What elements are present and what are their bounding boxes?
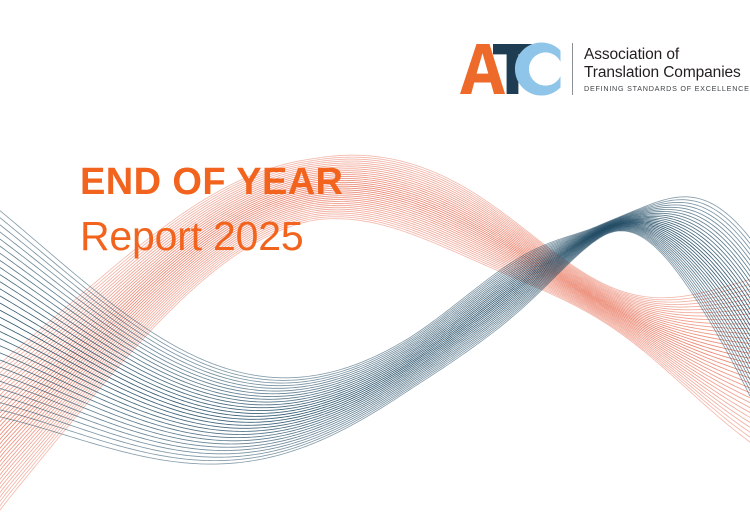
logo-divider xyxy=(572,43,573,95)
cover-page: Association of Translation Companies DEF… xyxy=(0,0,750,530)
atc-logo: Association of Translation Companies DEF… xyxy=(459,38,725,100)
cover-headline: END OF YEAR Report 2025 xyxy=(80,160,500,260)
logo-name-line-2: Translation Companies xyxy=(584,64,750,82)
page-title: END OF YEAR xyxy=(80,160,500,204)
atc-logo-mark xyxy=(459,38,563,100)
page-subtitle: Report 2025 xyxy=(80,212,500,260)
logo-tagline: DEFINING STANDARDS OF EXCELLENCE xyxy=(584,83,750,94)
logo-wordmark: Association of Translation Companies DEF… xyxy=(584,44,750,94)
logo-name-line-1: Association of xyxy=(584,46,750,64)
